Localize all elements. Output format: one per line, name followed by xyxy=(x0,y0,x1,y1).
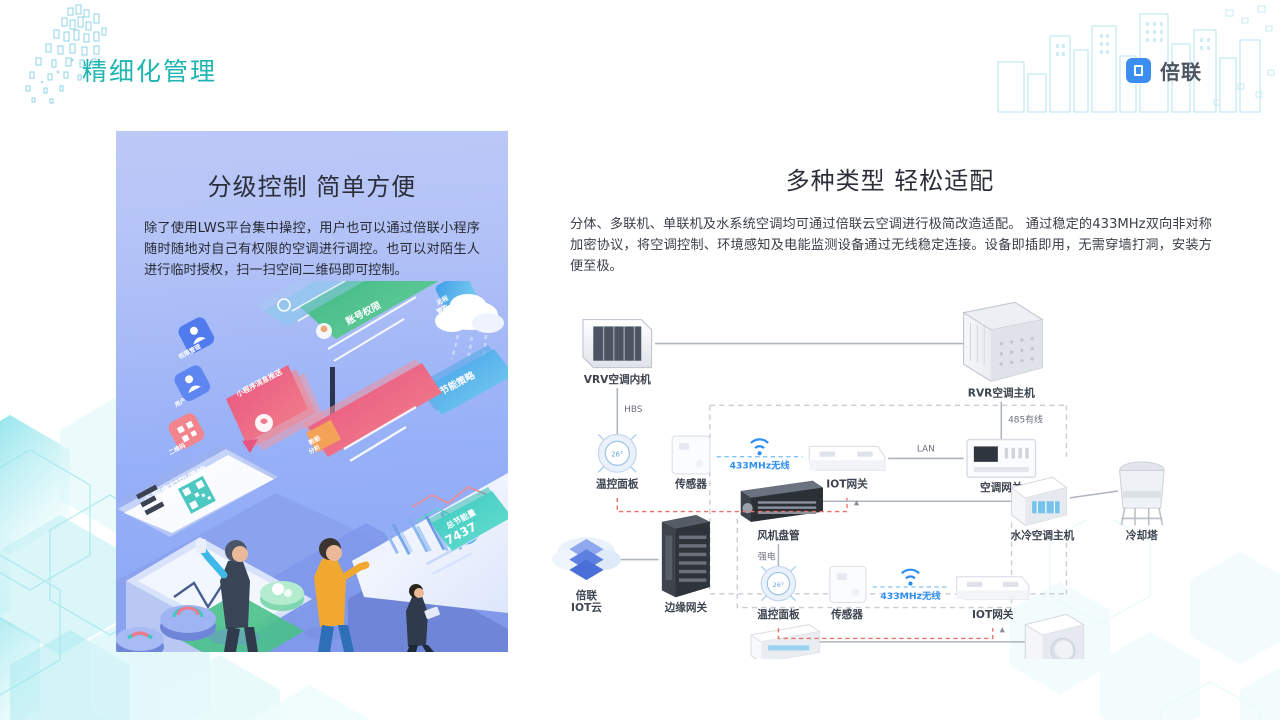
svg-text:▲: ▲ xyxy=(854,499,860,507)
label-thermostat-1: 温控面板 xyxy=(596,478,639,491)
node-rvr-host xyxy=(964,302,1043,381)
label-thermostat-2: 温控面板 xyxy=(757,608,800,621)
node-ac-gateway xyxy=(967,440,1036,478)
label-iot-gateway-2: IOT网关 xyxy=(972,608,1014,621)
label-fan-coil: 风机盘管 xyxy=(757,529,800,542)
node-sensor-1 xyxy=(672,436,710,474)
svg-text:26°: 26° xyxy=(773,581,785,589)
wireless-link-2: 433MHz无线 xyxy=(873,570,950,602)
link-label-hbs: HBS xyxy=(624,405,643,415)
node-split-outdoor xyxy=(1025,614,1083,659)
rounded-square-logo-icon xyxy=(1126,58,1151,83)
page-header: 精细化管理 倍联 xyxy=(0,0,1280,118)
label-sensor-1: 传感器 xyxy=(674,478,707,491)
wireless-link-1: 433MHz无线 xyxy=(717,439,803,471)
label-water-chiller: 水冷空调主机 xyxy=(1011,529,1075,542)
svg-text:26°: 26° xyxy=(611,451,623,459)
label-sensor-2: 传感器 xyxy=(830,608,863,621)
label-iot-gateway-1: IOT网关 xyxy=(826,478,868,491)
label-edge-gateway: 边缘网关 xyxy=(664,601,708,614)
link-label-485: 485有线 xyxy=(1008,413,1043,425)
node-thermostat-2: 26° xyxy=(761,566,795,600)
svg-text:▲: ▲ xyxy=(1000,626,1006,634)
label-cloud-line2: IOT云 xyxy=(571,601,602,614)
right-col-heading: 多种类型 轻松适配 xyxy=(540,161,1240,196)
wifi-icon-2 xyxy=(902,570,919,586)
node-thermostat-1: 26° xyxy=(598,434,636,472)
isometric-smart-control-illustration: 小程序扫码调控 权限管理 xyxy=(116,281,508,652)
label-cooling-tower: 冷却塔 xyxy=(1126,529,1158,542)
wifi-icon-1 xyxy=(751,439,768,455)
label-wireless-1: 433MHz无线 xyxy=(730,460,791,472)
link-label-lan: LAN xyxy=(917,445,935,455)
node-edge-gateway xyxy=(662,515,710,597)
node-cloud xyxy=(552,537,621,580)
link-label-power: 强电 xyxy=(758,551,776,563)
label-wireless-2: 433MHz无线 xyxy=(880,590,941,602)
page-title: 精细化管理 xyxy=(82,52,217,88)
brand-logo: 倍联 xyxy=(1126,56,1202,85)
left-feature-card: 分级控制 简单方便 除了使用LWS平台集中操控，用户也可以通过倍联小程序随时随地… xyxy=(116,131,508,652)
right-feature-column: 多种类型 轻松适配 分体、多联机、单联机及水系统空调均可通过倍联云空调进行极简改… xyxy=(540,131,1240,661)
right-col-body: 分体、多联机、单联机及水系统空调均可通过倍联云空调进行极简改造适配。 通过稳定的… xyxy=(570,214,1212,277)
node-vrv-indoor xyxy=(583,320,652,368)
label-vrv-indoor: VRV空调内机 xyxy=(584,373,651,386)
node-sensor-2 xyxy=(830,566,866,602)
node-fan-coil xyxy=(741,481,823,522)
topology-diagram: VRV空调内机 RVR空调主机 HBS 485有线 26° xyxy=(550,299,1240,659)
left-card-heading: 分级控制 简单方便 xyxy=(116,167,508,202)
node-cooling-tower xyxy=(1120,462,1165,525)
node-iot-gateway-2 xyxy=(957,577,1029,599)
brand-name: 倍联 xyxy=(1160,56,1202,85)
label-rvr-host: RVR空调主机 xyxy=(968,387,1035,400)
node-split-indoor xyxy=(751,625,820,659)
left-card-body: 除了使用LWS平台集中操控，用户也可以通过倍联小程序随时随地对自己有权限的空调进… xyxy=(144,218,480,281)
node-iot-gateway-1 xyxy=(809,446,884,470)
